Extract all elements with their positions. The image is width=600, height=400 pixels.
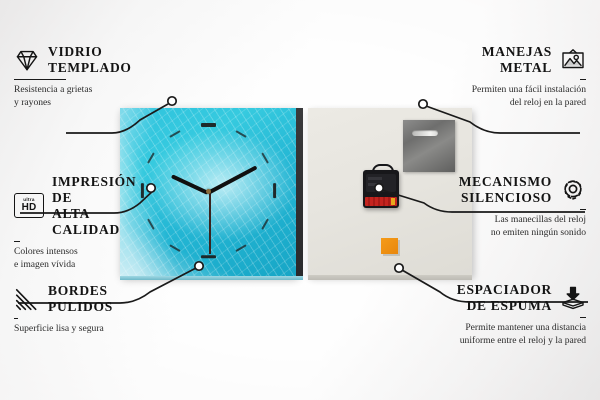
- clock-tick: [235, 244, 246, 252]
- glass-bottom-edge: [120, 276, 303, 280]
- clock-center-cap: [206, 189, 211, 194]
- feature-title: VIDRIO TEMPLADO: [48, 44, 132, 76]
- picture-frame-hanger-icon: [560, 48, 586, 72]
- feature-manejas-metal: MANEJAS METAL Permiten una fácil instala…: [448, 44, 586, 109]
- feature-rule: [14, 241, 20, 243]
- feature-title: ESPACIADOR DE ESPUMA: [457, 282, 552, 314]
- clock-mechanism: [363, 170, 399, 208]
- clock-tick: [272, 183, 275, 198]
- mechanism-body: [366, 174, 396, 192]
- clock-tick: [261, 152, 269, 163]
- gear-icon: [560, 178, 586, 202]
- feature-impresion-alta-calidad: ultra HD IMPRESIÓN DE ALTA CALIDAD Color…: [14, 174, 156, 271]
- feature-rule: [580, 209, 586, 211]
- feature-description: Resistencia a grietas y rayones: [14, 84, 144, 109]
- feature-bordes-pulidos: BORDES PULIDOS Superficie lisa y segura: [14, 283, 154, 336]
- feature-description: Permiten una fácil instalación del reloj…: [448, 84, 586, 109]
- ultra-hd-icon: ultra HD: [14, 193, 44, 218]
- feature-description: Las manecillas del reloj no emiten ningú…: [448, 214, 586, 239]
- feature-title: MECANISMO SILENCIOSO: [459, 174, 552, 206]
- feature-espaciador-espuma: ESPACIADOR DE ESPUMA Permite mantener un…: [430, 282, 586, 347]
- feature-title: BORDES PULIDOS: [48, 283, 113, 315]
- clock-tick: [201, 123, 216, 126]
- feature-rule: [14, 79, 66, 81]
- metal-hanger-plate: [403, 120, 455, 172]
- product-illustration: [120, 108, 472, 282]
- feature-rule: [580, 79, 586, 81]
- feature-title: IMPRESIÓN DE ALTA CALIDAD: [52, 174, 156, 238]
- feature-description: Superficie lisa y segura: [14, 323, 154, 335]
- clock-tick: [169, 244, 180, 252]
- leader-dot-4: [419, 100, 427, 108]
- clock-hour-hand: [171, 174, 209, 195]
- feature-title: MANEJAS METAL: [482, 44, 552, 76]
- feature-rule: [14, 318, 18, 320]
- feature-rule: [580, 317, 586, 319]
- foam-spacer-icon: [560, 286, 586, 310]
- polished-edges-icon: [14, 287, 40, 311]
- clock-tick: [147, 152, 155, 163]
- hanger-slot: [412, 130, 438, 136]
- feature-mecanismo-silencioso: MECANISMO SILENCIOSO Las manecillas del …: [448, 174, 586, 239]
- battery: [365, 197, 397, 206]
- clock-tick: [261, 218, 269, 229]
- feature-vidrio-templado: VIDRIO TEMPLADO Resistencia a grietas y …: [14, 44, 144, 109]
- infographic-canvas: VIDRIO TEMPLADO Resistencia a grietas y …: [0, 0, 600, 400]
- feature-description: Colores intensos e imagen vívida: [14, 246, 156, 271]
- clock-tick: [235, 130, 246, 138]
- leader-dot-1: [168, 97, 176, 105]
- clock-tick: [201, 255, 216, 258]
- feature-description: Permite mantener una distancia uniforme …: [430, 322, 586, 347]
- clock-second-hand: [209, 192, 211, 254]
- diamond-icon: [14, 48, 40, 72]
- clock-minute-hand: [207, 165, 257, 194]
- foam-spacer-pad: [381, 238, 398, 254]
- clock-tick: [169, 130, 180, 138]
- ultra-hd-main-text: HD: [22, 203, 37, 213]
